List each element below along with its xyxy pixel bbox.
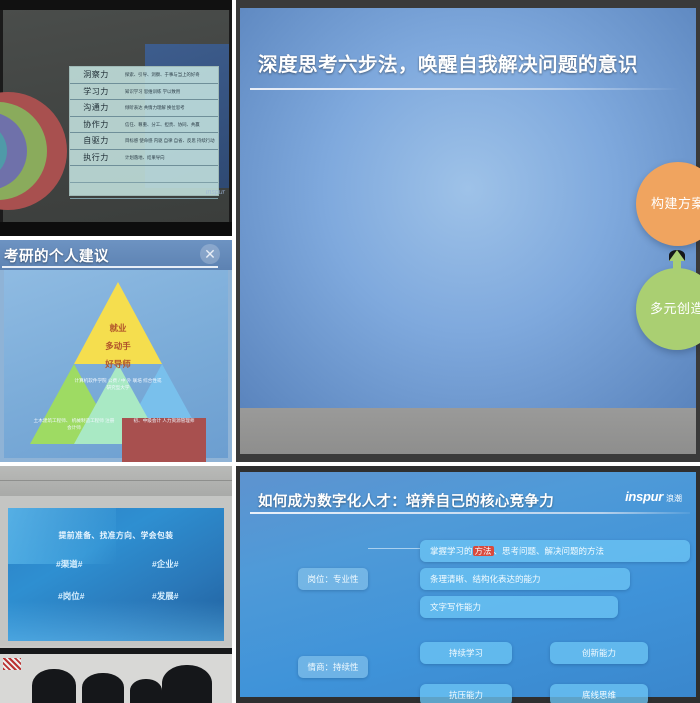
chip-highlight: 方法 [473,546,494,556]
row-key: 洞察力 [70,69,122,80]
pyramid-top-line-1: 就业 [30,322,206,334]
row-value: 知识学习 思维训练 学以致用 [122,89,218,95]
tag-enterprise: #企业# [152,558,178,570]
row-value: 倾听表达 共情力理解 换位思考 [122,105,218,111]
audience-head [32,669,76,703]
slide-title: 考研的个人建议 [4,245,109,266]
row-key: 沟通力 [70,102,122,113]
panel-lecture-room: 提前准备、找准方向、学会包装 #渠道# #企业# #岗位# #发展# [0,466,232,703]
slide-headline: 提前准备、找准方向、学会包装 [8,530,224,541]
pyramid-top-line-2: 多动手 [30,340,206,352]
slide-title: 如何成为数字化人才：培养自己的核心竞争力 [258,490,554,511]
slide-watermark: inspur [206,189,225,196]
slide-title: 深度思考六步法，唤醒自我解决问题的意识 [258,48,638,77]
pyramid-top-line-3: 好导师 [30,358,206,370]
ceiling-shadow [0,0,232,10]
projected-slide: 如何成为数字化人才：培养自己的核心竞争力 inspur浪潮 岗位：专业性 情商：… [240,472,696,697]
chip-suffix: 、思考问题、解决问题的方法 [494,546,605,556]
table-row-empty [70,183,218,200]
wall-marker [3,658,21,670]
panel-competency-wheel: 洞察力 探索、引导、洞察、于事与当上的好奇 学习力 知识学习 思维训练 学以致用… [0,0,232,236]
photo-collage: 洞察力 探索、引导、洞察、于事与当上的好奇 学习力 知识学习 思维训练 学以致用… [0,0,700,703]
competence-chip-structured-expression: 条理清晰、结构化表达的能力 [420,568,630,590]
competence-chip-innovation: 创新能力 [550,642,648,664]
panel-postgrad-advice: 就业 多动手 好导师 计算机软件学院 公费 / 中 外 联培 综合性或研究型大学… [0,240,232,462]
projection-screen: 提前准备、找准方向、学会包装 #渠道# #企业# #岗位# #发展# [8,508,224,641]
pyramid-middle-text: 计算机软件学院 公费 / 中 外 联培 综合性或研究型大学 [74,378,162,392]
table-row: 执行力 计划落地、结果导向 [70,150,218,167]
tag-position: #岗位# [58,590,84,602]
panel-six-step-thinking: 深度思考六步法，唤醒自我解决问题的意识 控制情感 唤醒觉知 多元设问 定义问题 … [236,0,700,462]
competence-chip-stress-resistance: 抗压能力 [420,684,512,703]
row-key: 执行力 [70,152,122,163]
brand-logo: inspur浪潮 [625,489,682,504]
competence-chip-bottom-line-thinking: 底线思维 [550,684,648,703]
row-value: 目标感 使命感 内驱 自律 自省、反思 持续行动 [122,138,218,144]
tag-channel: #渠道# [56,558,82,570]
chip-prefix: 掌握学习的 [430,546,473,556]
table-row: 协作力 信任、尊重、分工、担责、协同、共赢 [70,117,218,134]
group-label-profession: 岗位：专业性 [298,568,368,590]
row-key: 学习力 [70,86,122,97]
tag-development: #发展# [152,590,178,602]
room-floor [0,654,232,703]
competence-chip-continuous-learning: 持续学习 [420,642,512,664]
table-row-empty [70,166,218,183]
pyramid-left-text: 土木建筑工程师、 机械制造工程师 注册会计师 [32,418,116,432]
table-row: 学习力 知识学习 思维训练 学以致用 [70,84,218,101]
audience-head [162,665,212,703]
competence-chip-learning-method: 掌握学习的方法、思考问题、解决问题的方法 [420,540,690,562]
row-value: 信任、尊重、分工、担责、协同、共赢 [122,122,218,128]
title-underline [250,88,680,90]
pyramid-right-text: 初、中级会计 人力资源管理师 [122,418,206,462]
room-ceiling [0,466,232,496]
arrow-up-icon [669,250,685,274]
brand-name-cn: 浪潮 [666,494,682,503]
brand-name: inspur [625,489,663,504]
competency-table: 洞察力 探索、引导、洞察、于事与当上的好奇 学习力 知识学习 思维训练 学以致用… [69,66,219,196]
row-value: 探索、引导、洞察、于事与当上的好奇 [122,72,218,78]
audience-head [130,679,162,703]
group-label-persistence: 情商：持续性 [298,656,368,678]
slide-body: 就业 多动手 好导师 计算机软件学院 公费 / 中 外 联培 综合性或研究型大学… [4,270,228,458]
competence-chip-writing: 文字写作能力 [420,596,618,618]
panel-digital-talent: 如何成为数字化人才：培养自己的核心竞争力 inspur浪潮 岗位：专业性 情商：… [236,466,700,703]
advice-pyramid: 就业 多动手 好导师 计算机软件学院 公费 / 中 外 联培 综合性或研究型大学… [30,282,206,444]
close-icon[interactable]: ✕ [200,244,220,264]
row-key: 自驱力 [70,135,122,146]
group-connector-line [368,548,420,549]
title-underline [250,512,690,514]
table-row: 自驱力 目标感 使命感 内驱 自律 自省、反思 持续行动 [70,133,218,150]
title-underline [2,266,218,268]
row-value: 计划落地、结果导向 [122,155,218,161]
table-row: 沟通力 倾听表达 共情力理解 换位思考 [70,100,218,117]
row-key: 协作力 [70,119,122,130]
lecture-room-wall: 洞察力 探索、引导、洞察、于事与当上的好奇 学习力 知识学习 思维训练 学以致用… [3,10,229,222]
audience-head [82,673,124,703]
table-row: 洞察力 探索、引导、洞察、于事与当上的好奇 [70,67,218,84]
screen-base-shadow [240,408,696,454]
bottom-shadow [0,222,232,236]
